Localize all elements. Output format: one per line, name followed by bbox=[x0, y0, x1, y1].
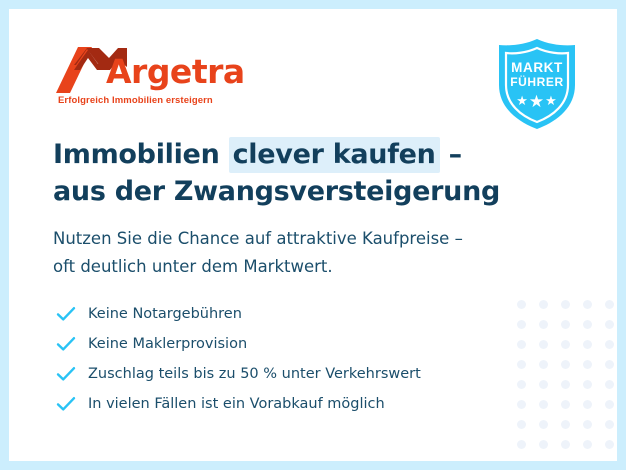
decorative-dot bbox=[539, 380, 548, 389]
decorative-dot bbox=[561, 420, 570, 429]
check-icon bbox=[56, 393, 82, 415]
decorative-dot-grid bbox=[517, 300, 626, 460]
decorative-dot bbox=[517, 320, 526, 329]
benefits-checklist: Keine NotargebührenKeine Maklerprovision… bbox=[56, 299, 496, 419]
checklist-item: Zuschlag teils bis zu 50 % unter Verkehr… bbox=[56, 359, 496, 389]
decorative-dot bbox=[583, 400, 592, 409]
promo-banner: Argetra Erfolgreich Immobilien ersteiger… bbox=[0, 0, 626, 470]
decorative-dot bbox=[517, 360, 526, 369]
frame-border-top bbox=[0, 0, 626, 9]
decorative-dot bbox=[583, 340, 592, 349]
decorative-dot bbox=[561, 440, 570, 449]
decorative-dot bbox=[605, 300, 614, 309]
decorative-dot bbox=[605, 440, 614, 449]
decorative-dot bbox=[605, 360, 614, 369]
checklist-item-label: In vielen Fällen ist ein Vorabkauf mögli… bbox=[82, 396, 385, 412]
decorative-dot bbox=[517, 380, 526, 389]
decorative-dot bbox=[517, 340, 526, 349]
decorative-dot bbox=[605, 400, 614, 409]
checklist-item-label: Keine Maklerprovision bbox=[82, 336, 247, 352]
checklist-item-label: Keine Notargebühren bbox=[82, 306, 242, 322]
decorative-dot bbox=[539, 400, 548, 409]
decorative-dot bbox=[561, 380, 570, 389]
decorative-dot bbox=[605, 420, 614, 429]
decorative-dot bbox=[583, 440, 592, 449]
check-icon bbox=[56, 363, 82, 385]
decorative-dot bbox=[583, 360, 592, 369]
decorative-dot bbox=[539, 440, 548, 449]
headline-highlight: clever kaufen bbox=[229, 137, 440, 173]
frame-border-bottom bbox=[0, 461, 626, 470]
decorative-dot bbox=[561, 340, 570, 349]
frame-border-left bbox=[0, 0, 9, 470]
checklist-item: In vielen Fällen ist ein Vorabkauf mögli… bbox=[56, 389, 496, 419]
decorative-dot bbox=[517, 420, 526, 429]
page-subtitle: Nutzen Sie die Chance auf attraktive Kau… bbox=[53, 225, 463, 281]
decorative-dot bbox=[561, 400, 570, 409]
decorative-dot bbox=[561, 300, 570, 309]
decorative-dot bbox=[561, 320, 570, 329]
check-icon bbox=[56, 303, 82, 325]
logo-tagline: Erfolgreich Immobilien ersteigern bbox=[58, 95, 213, 106]
decorative-dot bbox=[583, 380, 592, 389]
decorative-dot bbox=[605, 380, 614, 389]
decorative-dot bbox=[517, 300, 526, 309]
decorative-dot bbox=[539, 340, 548, 349]
checklist-item: Keine Notargebühren bbox=[56, 299, 496, 329]
shield-badge-icon bbox=[492, 38, 582, 130]
headline-text-post: – bbox=[440, 139, 462, 170]
subtitle-line-1: Nutzen Sie die Chance auf attraktive Kau… bbox=[53, 225, 463, 253]
subtitle-line-2: oft deutlich unter dem Marktwert. bbox=[53, 253, 463, 281]
decorative-dot bbox=[517, 440, 526, 449]
checklist-item: Keine Maklerprovision bbox=[56, 329, 496, 359]
decorative-dot bbox=[583, 300, 592, 309]
decorative-dot bbox=[583, 320, 592, 329]
decorative-dot bbox=[583, 420, 592, 429]
decorative-dot bbox=[517, 400, 526, 409]
logo-wordmark: Argetra bbox=[106, 55, 245, 88]
decorative-dot bbox=[539, 360, 548, 369]
decorative-dot bbox=[605, 340, 614, 349]
market-leader-badge: MARKT FÜHRER ★★★ bbox=[492, 38, 582, 130]
headline-text-pre: Immobilien bbox=[53, 139, 229, 170]
headline-line-2: aus der Zwangsversteigerung bbox=[53, 173, 500, 210]
decorative-dot bbox=[539, 320, 548, 329]
headline-line-1: Immobilien clever kaufen – bbox=[53, 136, 500, 173]
decorative-dot bbox=[605, 320, 614, 329]
page-title: Immobilien clever kaufen – aus der Zwang… bbox=[53, 136, 500, 210]
decorative-dot bbox=[539, 300, 548, 309]
checklist-item-label: Zuschlag teils bis zu 50 % unter Verkehr… bbox=[82, 366, 421, 382]
decorative-dot bbox=[539, 420, 548, 429]
argetra-logo: Argetra Erfolgreich Immobilien ersteiger… bbox=[56, 47, 256, 109]
check-icon bbox=[56, 333, 82, 355]
decorative-dot bbox=[561, 360, 570, 369]
